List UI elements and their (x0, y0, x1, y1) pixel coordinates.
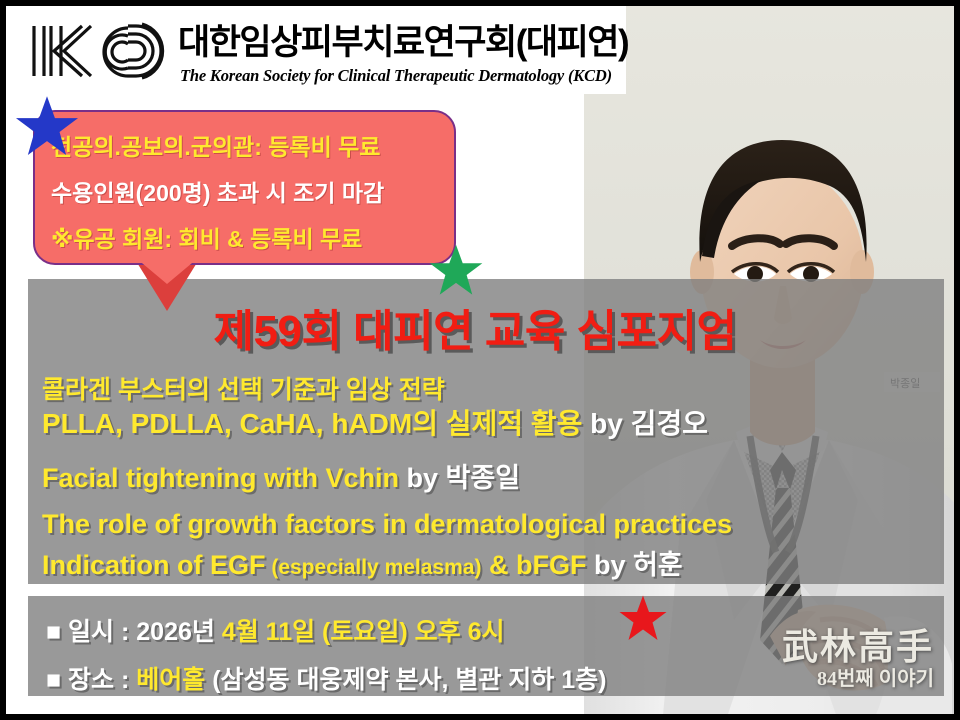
program-item-3-speaker: by 허훈 (586, 550, 682, 580)
program-item-3-topic: Indication of EGF (42, 550, 266, 580)
kcd-logo-icon (24, 18, 174, 84)
notice-bubble: 전공의.공보의.군의관: 등록비 무료 수용인원(200명) 초과 시 조기 마… (33, 110, 456, 265)
notice-line-3: ※유공 회원: 회비 & 등록비 무료 (51, 220, 362, 254)
notice-line-1: 전공의.공보의.군의관: 등록비 무료 (51, 128, 380, 162)
event-date-row: ■ 일시 : 2026년 4월 11일 (토요일) 오후 6시 (46, 612, 505, 648)
organization-name-ko: 대한임상피부치료연구회(대피연) (178, 22, 628, 64)
program-item-3-line-b: Indication of EGF (especially melasma) &… (42, 543, 683, 582)
watermark-subtitle: 84번째 이야기 (817, 662, 934, 691)
event-date-year: 2026년 (136, 618, 222, 646)
program-item-1-topic: PLLA, PDLLA, CaHA, hADM의 실제적 활용 (42, 408, 582, 439)
event-date-label: ■ 일시 : (46, 618, 136, 646)
program-item-1-speaker: by 김경오 (582, 408, 708, 439)
program-item-3-topic-2: & bFGF (481, 550, 586, 580)
event-venue-address: (삼성동 대웅제약 본사, 별관 지하 1층) (205, 666, 606, 694)
poster-canvas: 박종일 (0, 0, 960, 720)
star-red-icon (618, 594, 668, 642)
star-blue-icon (14, 94, 80, 158)
program-item-2-topic: Facial tightening with Vchin (42, 463, 399, 493)
page-title: 제59회 대피연 교육 심포지엄 (6, 306, 944, 358)
event-venue-name: 베어홀 (136, 666, 205, 694)
program-item-3-line-a: The role of growth factors in dermatolog… (42, 509, 732, 540)
organization-name-en: The Korean Society for Clinical Therapeu… (180, 66, 612, 86)
poster-header: 대한임상피부치료연구회(대피연) The Korean Society for … (6, 6, 626, 94)
event-date-value: 4월 11일 (토요일) 오후 6시 (222, 618, 505, 646)
star-green-icon (428, 243, 484, 297)
program-item-2: Facial tightening with Vchin by 박종일 (42, 456, 520, 495)
program-item-1-line-a: 콜라겐 부스터의 선택 기준과 임상 전략 (42, 370, 445, 406)
notice-line-2: 수용인원(200명) 초과 시 조기 마감 (51, 174, 384, 208)
notice-bubble-tail (136, 258, 198, 284)
program-item-3-paren: (especially melasma) (266, 556, 482, 579)
event-venue-row: ■ 장소 : 베어홀 (삼성동 대웅제약 본사, 별관 지하 1층) (46, 660, 606, 696)
program-item-2-speaker: by 박종일 (399, 463, 520, 493)
event-venue-label: ■ 장소 : (46, 666, 136, 694)
program-item-1-line-b: PLLA, PDLLA, CaHA, hADM의 실제적 활용 by 김경오 (42, 402, 708, 442)
